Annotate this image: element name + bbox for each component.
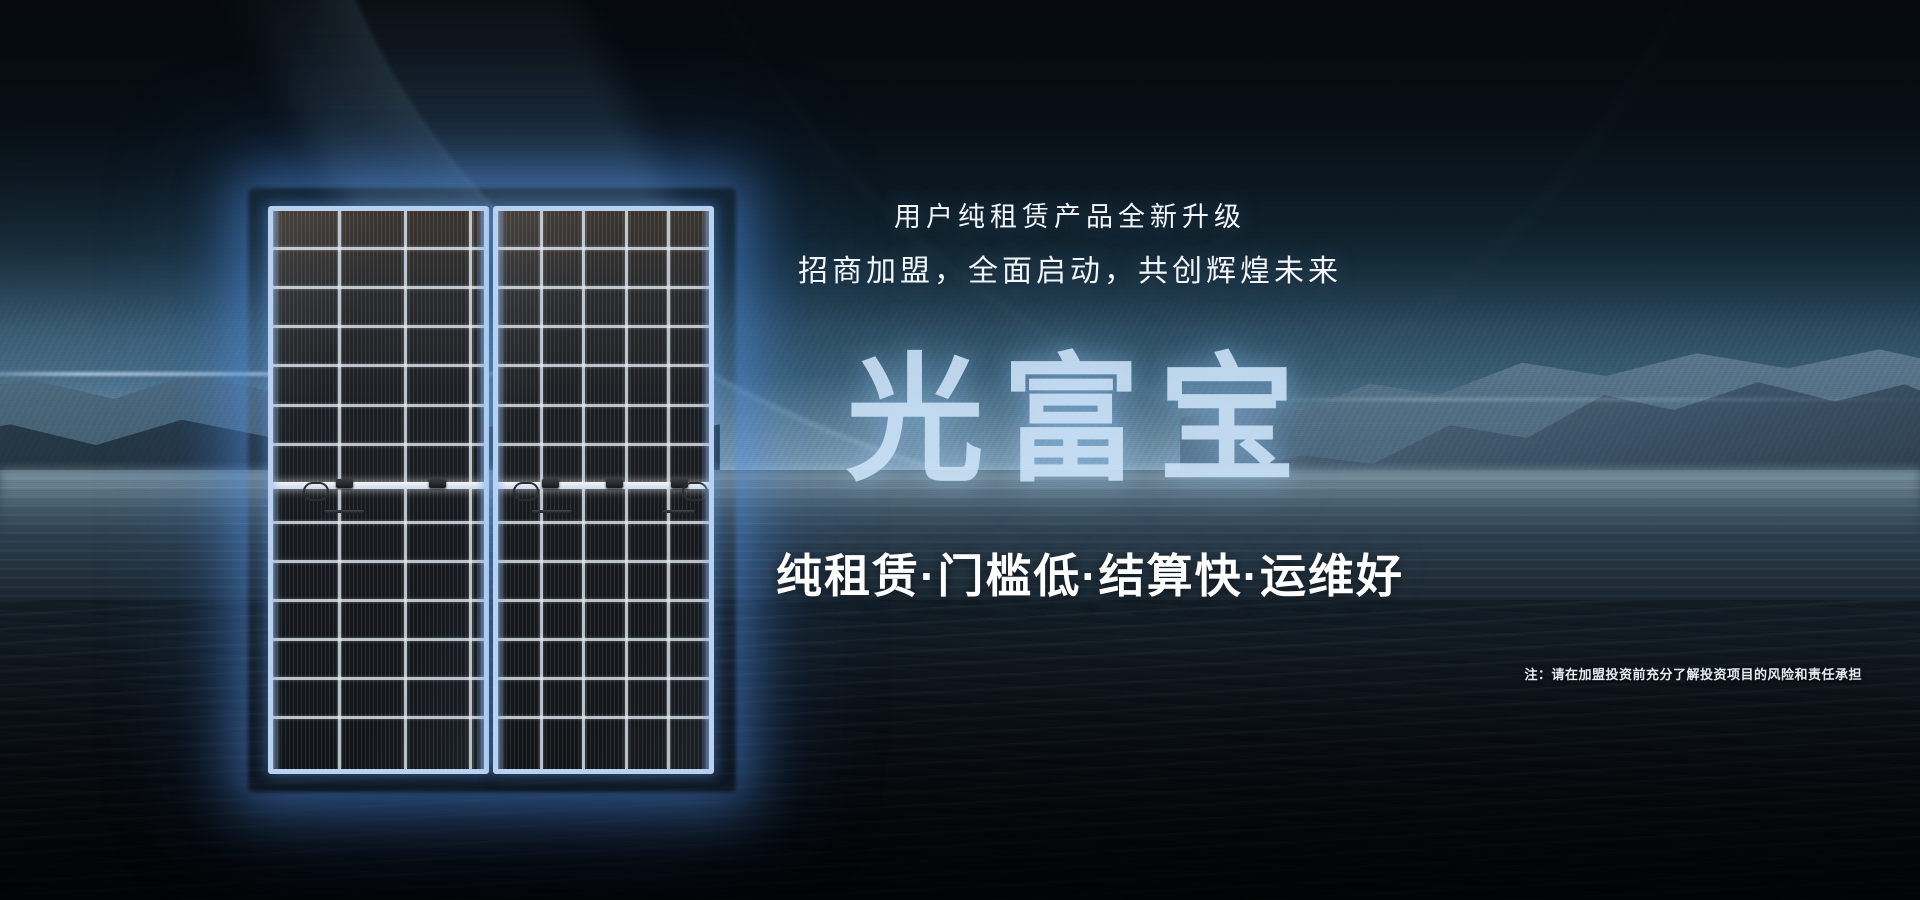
disclaimer-note: 注：请在加盟投资前充分了解投资项目的风险和责任承担 bbox=[1524, 664, 1862, 683]
junction-box-icon bbox=[606, 479, 623, 488]
cell-gridline-h bbox=[498, 521, 709, 524]
solar-module-right[interactable] bbox=[493, 206, 714, 774]
headline-line-2: 招商加盟，全面启动，共创辉煌未来 bbox=[760, 257, 1380, 287]
cell-gridline-h bbox=[273, 599, 484, 602]
cell-gridline-h bbox=[273, 521, 484, 524]
solar-module-left[interactable] bbox=[268, 206, 489, 774]
cell-gridline-v bbox=[338, 211, 341, 769]
cell-gridline-h bbox=[498, 247, 709, 250]
brand-logo-text: 光富宝 bbox=[760, 352, 1400, 490]
cell-gridline-h bbox=[498, 716, 709, 719]
headline-line-1: 用户纯租赁产品全新升级 bbox=[894, 202, 1246, 232]
cell-gridline-h bbox=[498, 404, 709, 407]
tagline-text: 纯租赁·门槛低·结算快·运维好 bbox=[620, 540, 1560, 606]
junction-box-icon bbox=[542, 479, 559, 488]
cell-gridline-v bbox=[582, 211, 585, 769]
cell-gridline-h bbox=[273, 286, 484, 289]
solar-panel[interactable] bbox=[268, 206, 714, 774]
cell-gridline-h bbox=[273, 325, 484, 328]
junction-box-icon bbox=[429, 479, 446, 488]
cable-lead bbox=[663, 510, 695, 513]
cable-loop bbox=[682, 482, 708, 501]
cell-gridline-h bbox=[273, 247, 484, 250]
cell-gridline-h bbox=[273, 716, 484, 719]
headline-block: 用户纯租赁产品全新升级 招商加盟，全面启动，共创辉煌未来 bbox=[760, 204, 1380, 287]
junction-box-icon bbox=[336, 479, 353, 488]
cable-lead bbox=[532, 510, 572, 513]
cell-gridline-h bbox=[273, 443, 484, 446]
cell-gridline-h bbox=[273, 404, 484, 407]
cell-gridline-h bbox=[498, 443, 709, 446]
cell-gridline-h bbox=[273, 560, 484, 563]
cell-gridline-v bbox=[540, 211, 543, 769]
cell-gridline-h bbox=[498, 677, 709, 680]
cell-gridline-v bbox=[469, 211, 472, 769]
cell-gridline-v bbox=[625, 211, 628, 769]
promo-banner: 用户纯租赁产品全新升级 招商加盟，全面启动，共创辉煌未来 光富宝 纯租赁·门槛低… bbox=[0, 0, 1920, 900]
cell-gridline-h bbox=[273, 638, 484, 641]
cell-gridline-h bbox=[498, 638, 709, 641]
cell-gridline-h bbox=[498, 364, 709, 367]
cell-gridline-h bbox=[498, 325, 709, 328]
cable-loop bbox=[303, 482, 329, 501]
cell-gridline-v bbox=[667, 211, 670, 769]
cable-lead bbox=[324, 510, 364, 513]
cell-gridline-h bbox=[273, 677, 484, 680]
cell-gridline-h bbox=[273, 364, 484, 367]
cell-gridline-h bbox=[498, 286, 709, 289]
cell-gridline-v bbox=[404, 211, 407, 769]
cable-loop bbox=[513, 482, 539, 501]
